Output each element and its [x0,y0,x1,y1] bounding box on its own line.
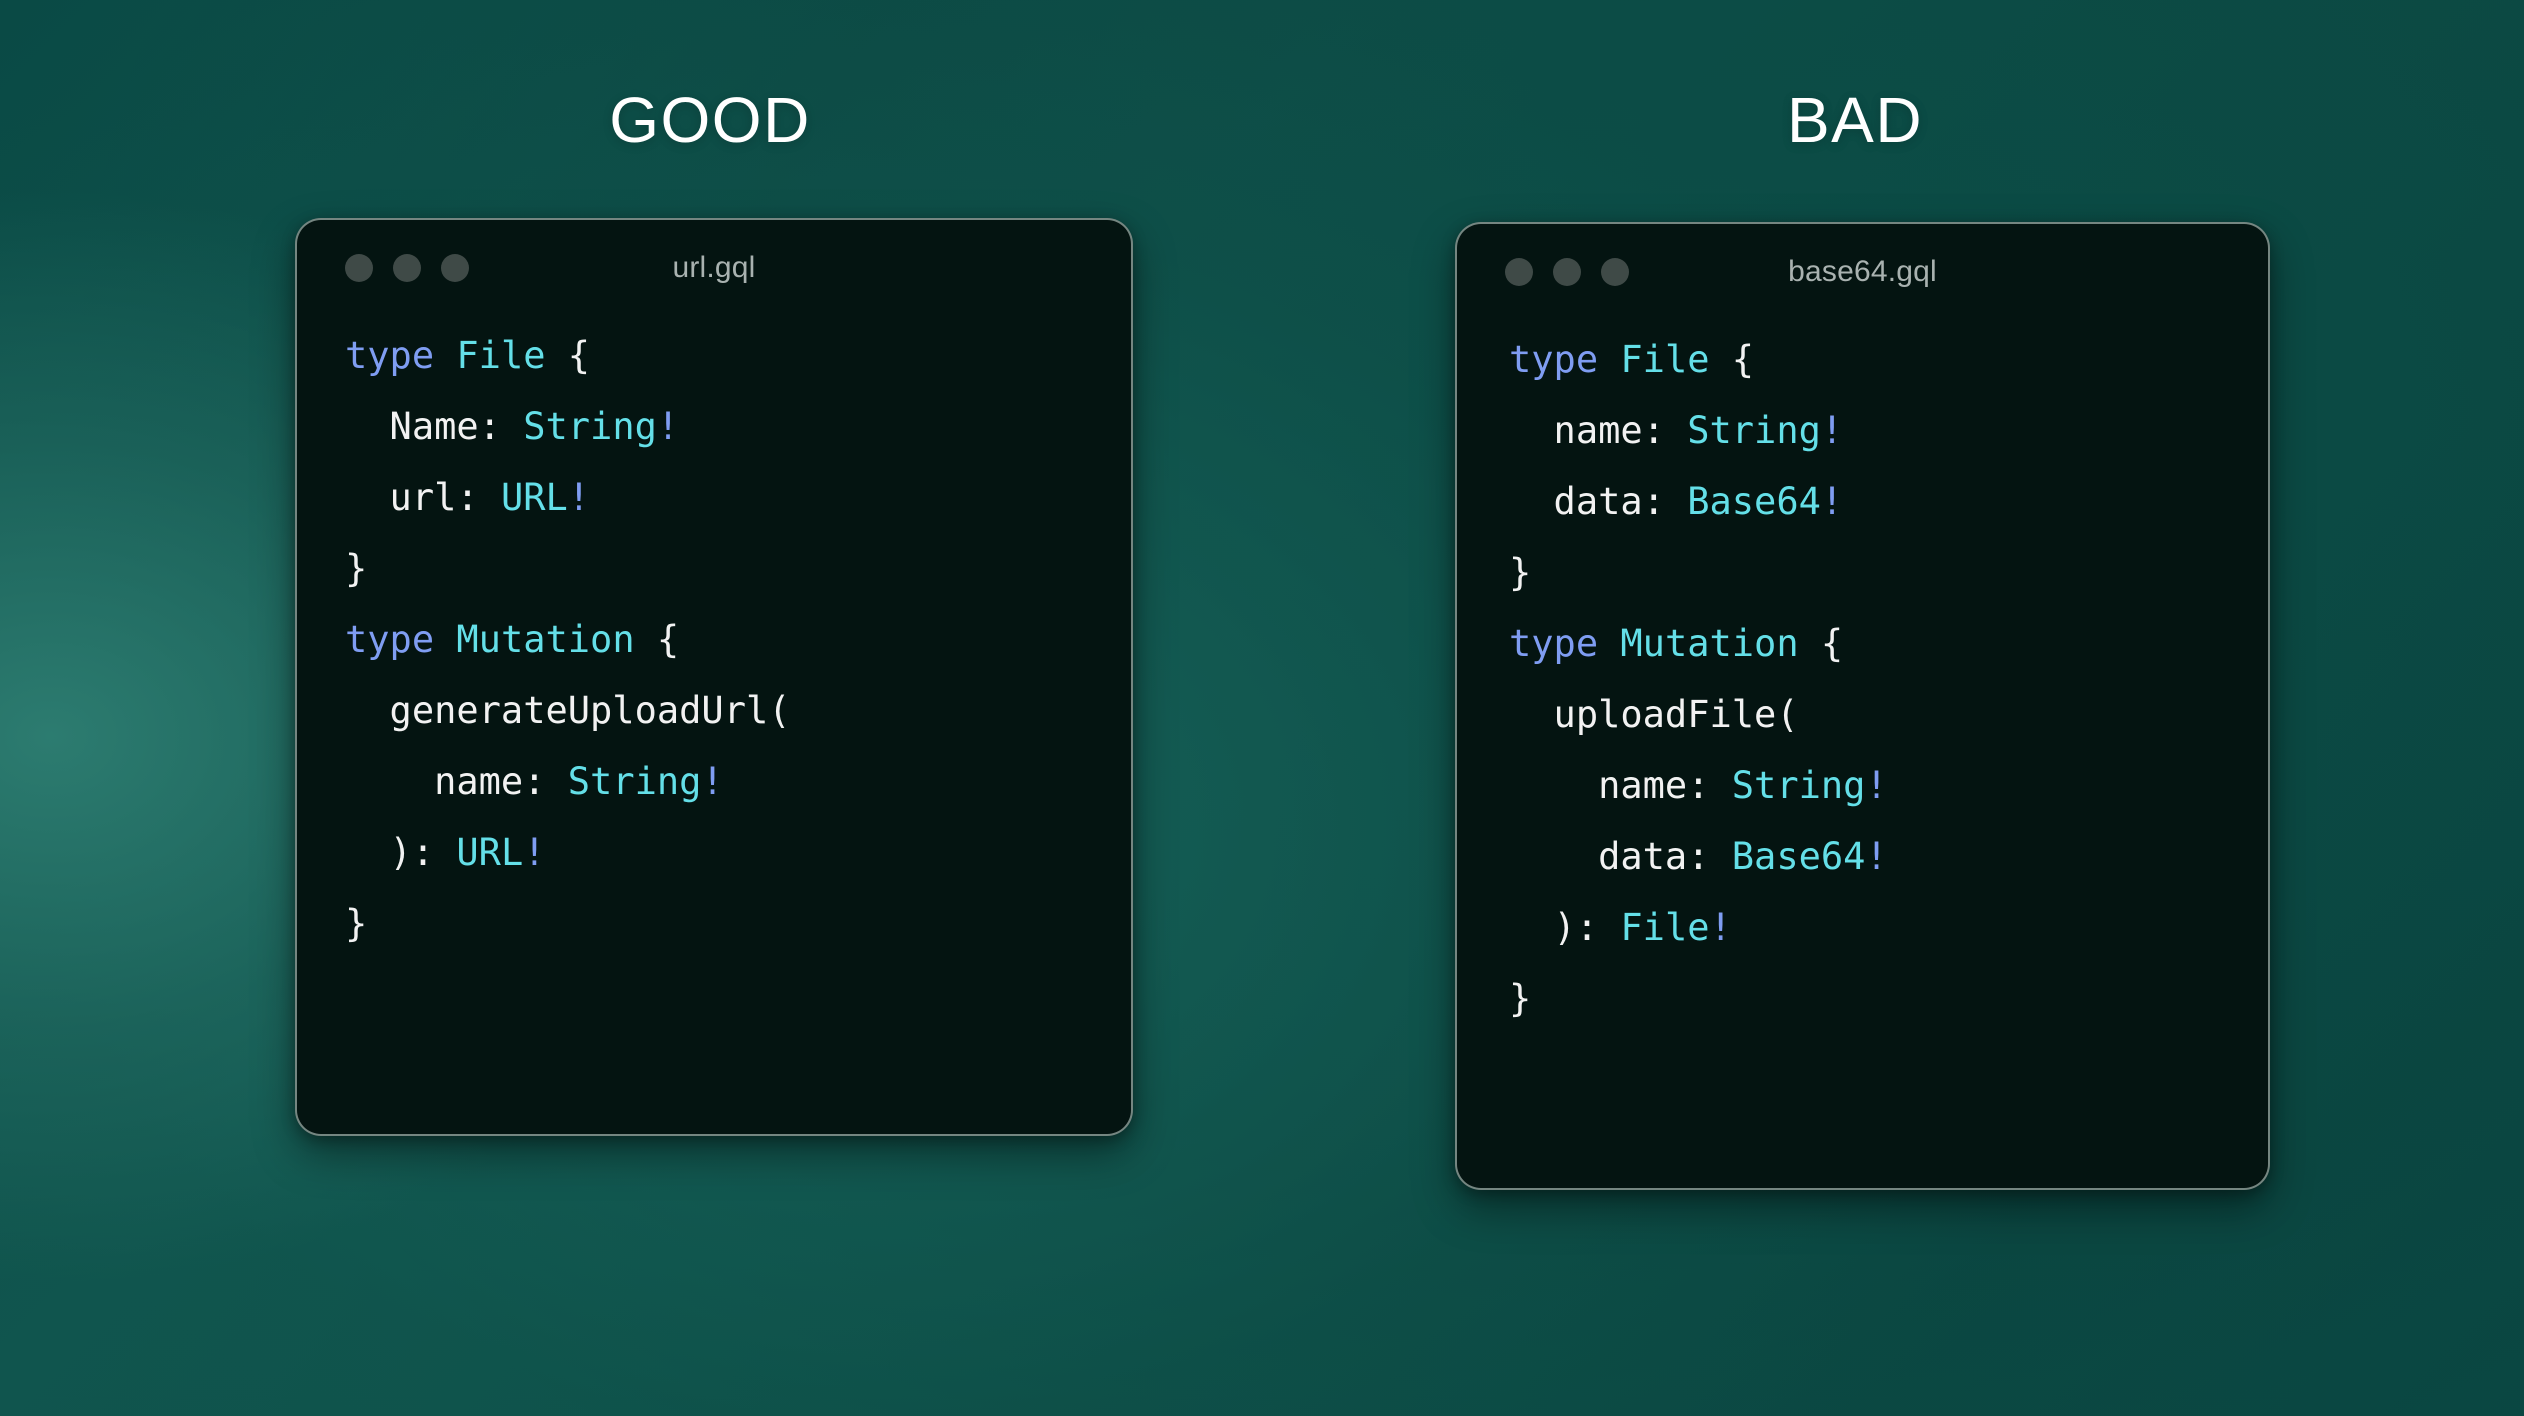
code-token-type: String [568,760,702,803]
code-token-type: String [1687,409,1821,452]
window-titlebar: url.gql [297,220,1131,316]
heading-bad: BAD [1787,88,1923,152]
code-line: Name: String! [345,391,1131,462]
code-token-bang: ! [1710,906,1732,949]
code-token-type: File [1620,338,1709,381]
code-token-type: Base64 [1687,480,1821,523]
code-token-plain: } [345,547,367,590]
code-line: name: String! [1509,750,2268,821]
code-line: type Mutation { [345,604,1131,675]
code-token-plain: name: [1509,764,1732,807]
code-line: ): File! [1509,892,2268,963]
code-token-plain: } [1509,977,1531,1020]
code-token-plain [434,618,456,661]
code-token-plain: name: [345,760,568,803]
code-block-bad: type File { name: String! data: Base64!}… [1457,320,2268,1034]
code-token-type: Mutation [456,618,634,661]
code-token-bang: ! [1821,409,1843,452]
code-line: name: String! [1509,395,2268,466]
code-token-bang: ! [1865,835,1887,878]
code-line: type File { [1509,324,2268,395]
code-line: data: Base64! [1509,466,2268,537]
code-token-plain: generateUploadUrl( [345,689,791,732]
code-token-plain: ): [1509,906,1620,949]
code-token-keyword: type [1509,622,1598,665]
filename-label: url.gql [297,251,1131,285]
code-line: uploadFile( [1509,679,2268,750]
code-token-type: String [1732,764,1866,807]
code-line: type Mutation { [1509,608,2268,679]
code-token-plain: { [1710,338,1755,381]
code-token-type: URL [501,476,568,519]
code-token-bang: ! [701,760,723,803]
code-line: generateUploadUrl( [345,675,1131,746]
code-line: type File { [345,320,1131,391]
code-token-bang: ! [1821,480,1843,523]
heading-good: GOOD [609,88,811,152]
code-token-plain: } [345,902,367,945]
window-titlebar: base64.gql [1457,224,2268,320]
code-token-keyword: type [345,618,434,661]
code-token-type: Base64 [1732,835,1866,878]
code-token-plain [1598,622,1620,665]
code-token-plain [434,334,456,377]
code-token-plain: name: [1509,409,1687,452]
code-window-good: url.gql type File { Name: String! url: U… [295,218,1133,1136]
code-line: url: URL! [345,462,1131,533]
code-window-bad: base64.gql type File { name: String! dat… [1455,222,2270,1190]
code-token-bang: ! [568,476,590,519]
code-token-bang: ! [523,831,545,874]
code-token-bang: ! [657,405,679,448]
comparison-slide: GOOD BAD url.gql type File { Name: Strin… [0,0,2524,1416]
code-token-plain: data: [1509,835,1732,878]
code-line: name: String! [345,746,1131,817]
code-token-type: Mutation [1620,622,1798,665]
code-token-type: String [523,405,657,448]
code-token-plain: ): [345,831,456,874]
code-token-type: URL [456,831,523,874]
code-line: } [1509,537,2268,608]
code-token-plain: { [635,618,680,661]
code-token-plain: url: [345,476,501,519]
code-line: } [345,533,1131,604]
code-block-good: type File { Name: String! url: URL!}type… [297,316,1131,959]
code-line: } [345,888,1131,959]
code-token-keyword: type [345,334,434,377]
code-token-keyword: type [1509,338,1598,381]
code-token-plain: { [1799,622,1844,665]
code-token-plain: { [546,334,591,377]
code-token-plain: data: [1509,480,1687,523]
code-token-plain: } [1509,551,1531,594]
code-token-type: File [456,334,545,377]
code-token-type: File [1620,906,1709,949]
code-line: ): URL! [345,817,1131,888]
code-token-bang: ! [1865,764,1887,807]
code-line: data: Base64! [1509,821,2268,892]
code-token-plain: Name: [345,405,523,448]
code-line: } [1509,963,2268,1034]
code-token-plain: uploadFile( [1509,693,1799,736]
code-token-plain [1598,338,1620,381]
filename-label: base64.gql [1457,255,2268,289]
